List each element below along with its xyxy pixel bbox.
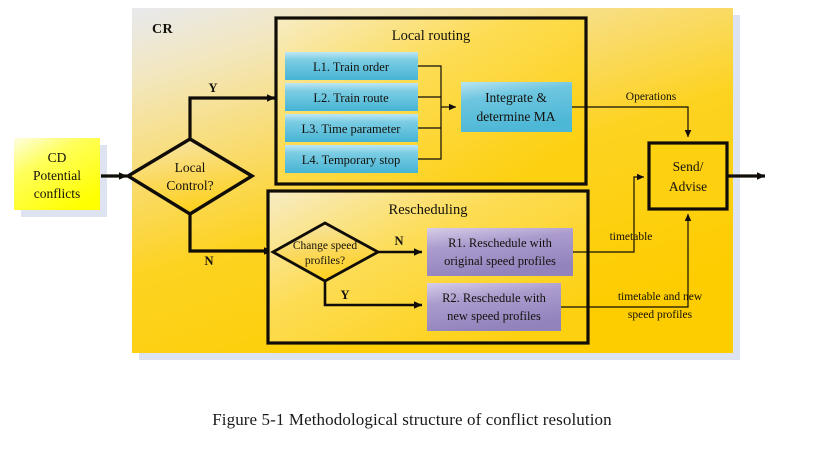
edge-label-timetable-new-2: speed profiles bbox=[628, 309, 693, 321]
cr-label: CR bbox=[152, 22, 174, 37]
decision-local-control-line1: Local bbox=[175, 160, 206, 175]
rescheduling-title: Rescheduling bbox=[389, 202, 468, 218]
local-routing-title: Local routing bbox=[392, 28, 471, 44]
edge-label-timetable: timetable bbox=[610, 231, 653, 243]
local-routing-option-label: L4. Temporary stop bbox=[302, 153, 401, 167]
edge-label-change-speed-yes: Y bbox=[340, 288, 349, 302]
integrate-box-line2: determine MA bbox=[476, 109, 555, 124]
edge-label-local-control-no: N bbox=[204, 254, 213, 268]
output-box-line1: Send/ bbox=[673, 159, 704, 174]
local-routing-option-label: L3. Time parameter bbox=[302, 122, 402, 136]
figure-caption: Figure 5-1 Methodological structure of c… bbox=[0, 410, 824, 430]
rescheduling-option-line2: original speed profiles bbox=[444, 254, 556, 268]
input-label-line1: CD bbox=[48, 150, 67, 165]
local-routing-option-label: L2. Train route bbox=[313, 91, 389, 105]
rescheduling-option-line1: R2. Reschedule with bbox=[442, 291, 547, 305]
rescheduling-option-line1: R1. Reschedule with bbox=[448, 236, 553, 250]
output-box[interactable] bbox=[649, 143, 727, 209]
decision-local-control-line2: Control? bbox=[166, 178, 213, 193]
integrate-box-line1: Integrate & bbox=[485, 90, 547, 105]
input-label-line3: conflicts bbox=[34, 186, 81, 201]
decision-change-speed-line2: profiles? bbox=[305, 255, 345, 267]
conflict-resolution-diagram: CR CD Potential conflicts Local Control?… bbox=[0, 0, 824, 458]
decision-change-speed-line1: Change speed bbox=[293, 240, 357, 252]
figure-stage: CR CD Potential conflicts Local Control?… bbox=[0, 0, 824, 458]
edge-label-timetable-new-1: timetable and new bbox=[618, 291, 703, 303]
input-label-line2: Potential bbox=[33, 168, 81, 183]
edge-label-operations: Operations bbox=[626, 91, 677, 103]
rescheduling-option-line2: new speed profiles bbox=[447, 309, 541, 323]
edge-label-local-control-yes: Y bbox=[208, 81, 217, 95]
edge-label-change-speed-no: N bbox=[394, 234, 403, 248]
output-box-line2: Advise bbox=[669, 179, 707, 194]
local-routing-option-label: L1. Train order bbox=[313, 60, 390, 74]
